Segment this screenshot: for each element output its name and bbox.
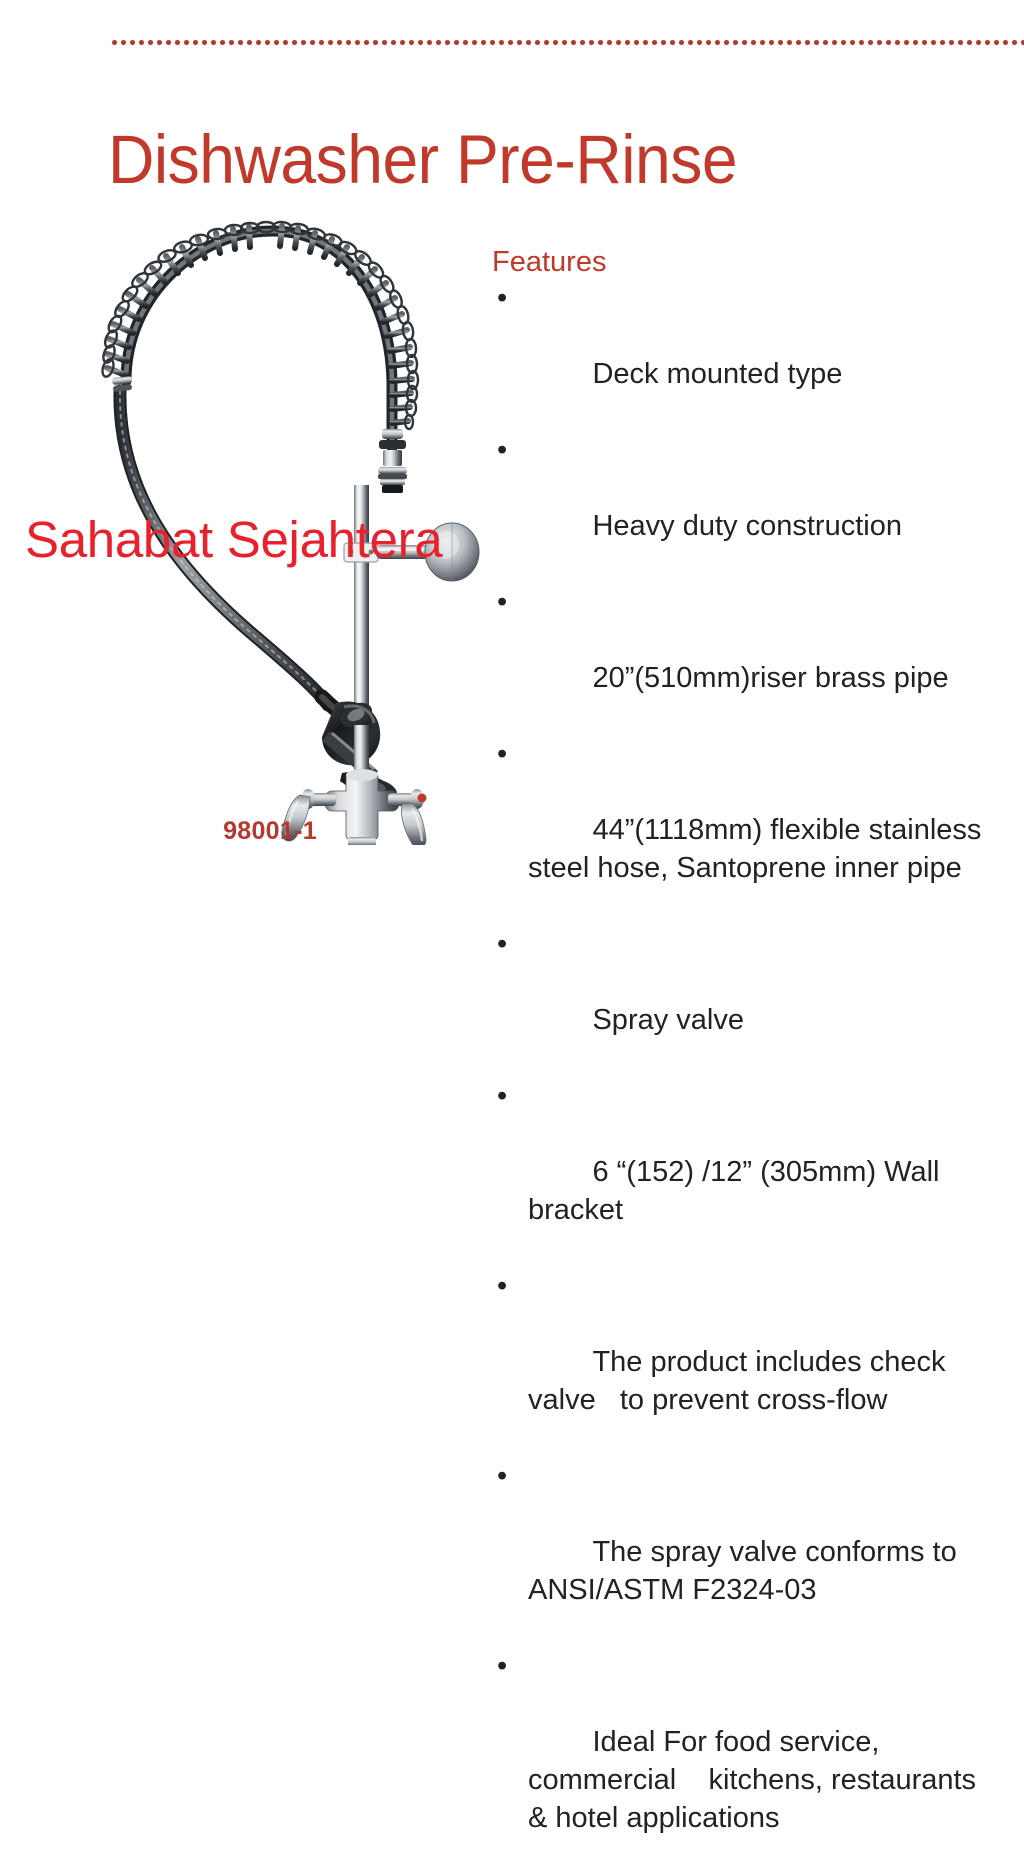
product-figure: Sahabat Sejahtera 98001-1 (60, 185, 480, 885)
feature-text: Spray valve (592, 1004, 744, 1036)
feature-text: The spray valve conforms to ANSI/ASTM F2… (528, 1536, 963, 1606)
features-list: • Deck mounted type • Heavy duty constru… (492, 280, 992, 1875)
feature-text: The product includes check valve to prev… (528, 1346, 954, 1416)
feature-item: • Deck mounted type (492, 280, 992, 432)
bullet-glyph: • (497, 280, 507, 318)
bullet-glyph: • (497, 1458, 507, 1496)
hose-riser-coupling (378, 429, 407, 493)
bullet-glyph: • (497, 584, 507, 622)
feature-item: • 6 “(152) /12” (305mm) Wall bracket (492, 1078, 992, 1268)
feature-item: • The product includes check valve to pr… (492, 1268, 992, 1458)
feature-item: • Ideal For food service, commercial kit… (492, 1648, 992, 1876)
bullet-glyph: • (497, 926, 507, 964)
feature-item: • Spray valve (492, 926, 992, 1078)
feature-text: Deck mounted type (592, 358, 842, 390)
product-photo (60, 185, 480, 845)
features-panel: Features • Deck mounted type • Heavy dut… (492, 246, 992, 1876)
bullet-glyph: • (497, 1078, 507, 1116)
slide-canvas: Dishwasher Pre-Rinse (0, 0, 1024, 1024)
feature-item: • Heavy duty construction (492, 432, 992, 584)
dotted-divider (110, 40, 1024, 45)
bullet-glyph: • (497, 432, 507, 470)
feature-text: Ideal For food service, commercial kitch… (528, 1726, 984, 1834)
feature-item: • 20”(510mm)riser brass pipe (492, 584, 992, 736)
bullet-glyph: • (497, 1268, 507, 1306)
feature-text: 6 “(152) /12” (305mm) Wall bracket (528, 1156, 948, 1226)
features-heading: Features (492, 246, 992, 278)
bullet-glyph: • (497, 1648, 507, 1686)
feature-text: 44”(1118mm) flexible stainless steel hos… (528, 814, 990, 884)
feature-item: • The spray valve conforms to ANSI/ASTM … (492, 1458, 992, 1648)
feature-text: 20”(510mm)riser brass pipe (592, 662, 948, 694)
feature-item: • 44”(1118mm) flexible stainless steel h… (492, 736, 992, 926)
bullet-glyph: • (497, 736, 507, 774)
spring-coil (100, 221, 418, 429)
product-code: 98001-1 (60, 817, 480, 846)
feature-text: Heavy duty construction (592, 510, 901, 542)
